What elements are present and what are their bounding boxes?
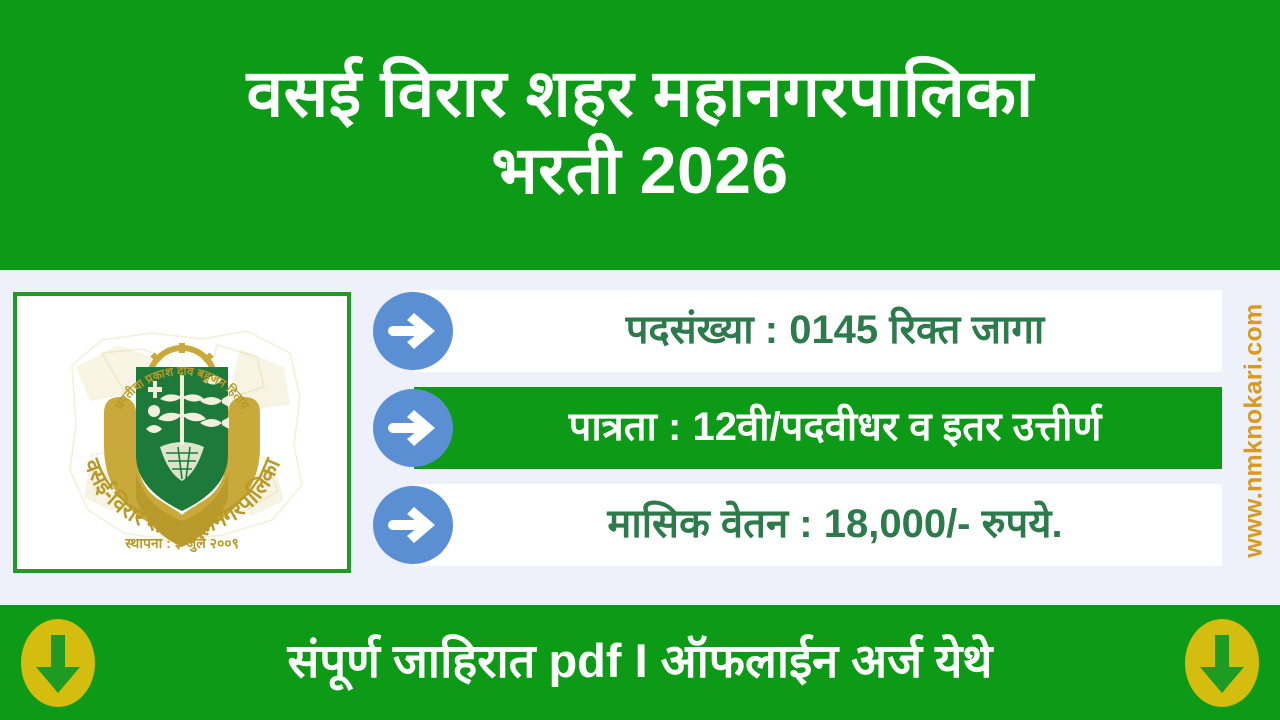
poster-header: वसई विरार शहर महानगरपालिका भरती 2026 (0, 0, 1280, 270)
info-row-bar: मासिक वेतन : 18,000/- रुपये. (414, 484, 1222, 566)
arrow-right-circle-icon (372, 291, 454, 371)
info-row-bar: पात्रता : 12वी/पदवीधर व इतर उत्तीर्ण (414, 387, 1222, 469)
header-title-line-2: भरती 2026 (491, 135, 788, 206)
site-watermark: www.nmknokari.com (1232, 280, 1276, 580)
poster-footer-cta[interactable]: संपूर्ण जाहिरात pdf I ऑफलाईन अर्ज येथे (0, 605, 1280, 720)
municipal-corporation-emblem-icon: प्रगतीचा प्रकाश दाव बहुजन हिताय वसई-विरा… (32, 305, 332, 560)
info-row-salary: मासिक वेतन : 18,000/- रुपये. (368, 484, 1222, 566)
organization-logo-box: प्रगतीचा प्रकाश दाव बहुजन हिताय वसई-विरा… (13, 292, 351, 573)
footer-cta-label[interactable]: संपूर्ण जाहिरात pdf I ऑफलाईन अर्ज येथे (288, 637, 993, 688)
info-rows: पदसंख्या : 0145 रिक्त जागा पात्रता : 12व… (368, 290, 1222, 580)
info-row-vacancies: पदसंख्या : 0145 रिक्त जागा (368, 290, 1222, 372)
arrow-down-circle-icon[interactable] (1184, 617, 1260, 709)
info-row-label: मासिक वेतन : 18,000/- रुपये. (573, 504, 1062, 547)
arrow-right-circle-icon (372, 485, 454, 565)
poster-body: प्रगतीचा प्रकाश दाव बहुजन हिताय वसई-विरा… (0, 270, 1280, 605)
info-row-bar: पदसंख्या : 0145 रिक्त जागा (414, 290, 1222, 372)
header-title-line-1: वसई विरार शहर महानगरपालिका (246, 58, 1033, 129)
arrow-down-circle-icon[interactable] (20, 617, 96, 709)
arrow-right-circle-icon (372, 388, 454, 468)
svg-text:स्थापना : ३ जुलै २००९: स्थापना : ३ जुलै २००९ (124, 535, 239, 553)
recruitment-poster: वसई विरार शहर महानगरपालिका भरती 2026 (0, 0, 1280, 720)
info-row-label: पात्रता : 12वी/पदवीधर व इतर उत्तीर्ण (535, 407, 1102, 450)
info-row-label: पदसंख्या : 0145 रिक्त जागा (592, 310, 1045, 353)
info-row-eligibility: पात्रता : 12वी/पदवीधर व इतर उत्तीर्ण (368, 387, 1222, 469)
watermark-text: www.nmknokari.com (1240, 303, 1269, 557)
